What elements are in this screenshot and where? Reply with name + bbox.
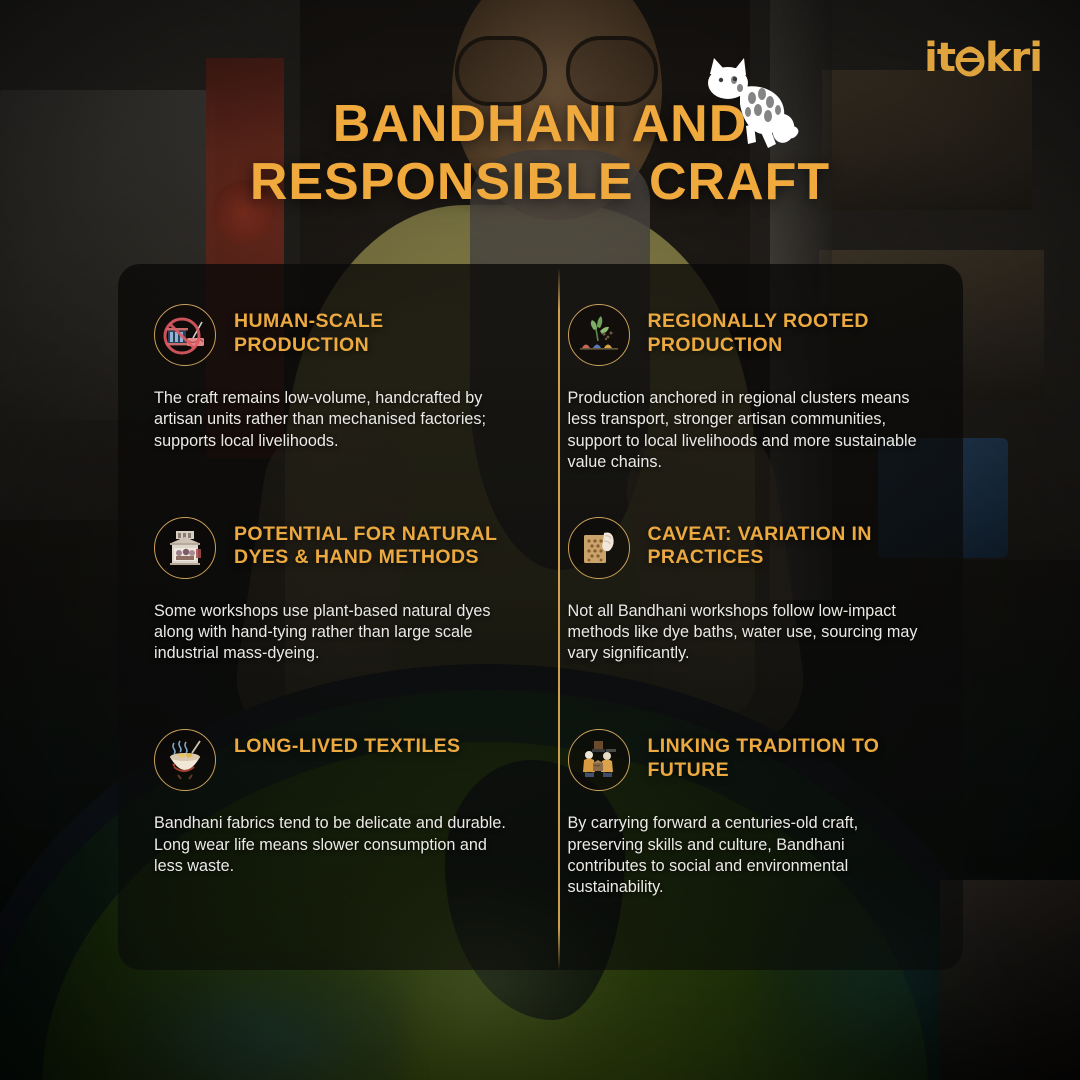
info-card-caveat-variation-in-practices: CAVEAT: VARIATION IN PRACTICES Not all B…	[568, 515, 938, 728]
steaming-dye-pot-icon	[154, 729, 216, 791]
info-card-linking-tradition-to-future: LINKING TRADITION TO FUTURE By carrying …	[568, 727, 938, 940]
card-title: POTENTIAL FOR NATURAL DYES & HAND METHOD…	[234, 515, 514, 571]
card-body: Bandhani fabrics tend to be delicate and…	[154, 813, 514, 877]
card-title: LONG-LIVED TEXTILES	[234, 727, 460, 759]
card-header: LINKING TRADITION TO FUTURE	[568, 727, 928, 791]
basket-icon	[955, 38, 985, 78]
card-header: REGIONALLY ROOTED PRODUCTION	[568, 302, 928, 366]
card-header: POTENTIAL FOR NATURAL DYES & HAND METHOD…	[154, 515, 514, 579]
two-artisans-working-icon	[568, 729, 630, 791]
card-title: CAVEAT: VARIATION IN PRACTICES	[648, 515, 928, 571]
card-header: HUMAN-SCALE PRODUCTION	[154, 302, 514, 366]
page-title-line-1: BANDHANI AND	[0, 95, 1080, 153]
brand-logo-text-prefix: it	[924, 38, 955, 78]
card-header: CAVEAT: VARIATION IN PRACTICES	[568, 515, 928, 579]
brand-logo[interactable]: it kri	[924, 38, 1042, 78]
card-header: LONG-LIVED TEXTILES	[154, 727, 514, 791]
seedling-dye-pigments-icon	[568, 304, 630, 366]
card-title: REGIONALLY ROOTED PRODUCTION	[648, 302, 928, 358]
info-card-long-lived-textiles: LONG-LIVED TEXTILES Bandhani fabrics ten…	[154, 727, 524, 940]
info-card-human-scale-production: HUMAN-SCALE PRODUCTION The craft remains…	[154, 302, 524, 515]
card-title: HUMAN-SCALE PRODUCTION	[234, 302, 514, 358]
card-body: The craft remains low-volume, handcrafte…	[154, 388, 514, 452]
card-body: By carrying forward a centuries-old craf…	[568, 813, 928, 899]
hand-holding-bandhani-fabric-icon	[568, 517, 630, 579]
card-title: LINKING TRADITION TO FUTURE	[648, 727, 928, 783]
cat-illustration-icon	[690, 52, 800, 157]
column-divider	[558, 268, 560, 970]
page-title-line-2: RESPONSIBLE CRAFT	[0, 153, 1080, 211]
no-factory-icon	[154, 304, 216, 366]
info-card-regionally-rooted-production: REGIONALLY ROOTED PRODUCTION Production …	[568, 302, 938, 515]
content-panel: HUMAN-SCALE PRODUCTION The craft remains…	[118, 264, 963, 970]
brand-logo-text-suffix: kri	[985, 38, 1042, 78]
card-body: Production anchored in regional clusters…	[568, 388, 928, 474]
artisan-workshop-building-icon	[154, 517, 216, 579]
card-body: Not all Bandhani workshops follow low-im…	[568, 601, 928, 665]
card-body: Some workshops use plant-based natural d…	[154, 601, 514, 665]
page-title: BANDHANI AND RESPONSIBLE CRAFT	[0, 95, 1080, 211]
info-card-natural-dyes-hand-methods: POTENTIAL FOR NATURAL DYES & HAND METHOD…	[154, 515, 524, 728]
